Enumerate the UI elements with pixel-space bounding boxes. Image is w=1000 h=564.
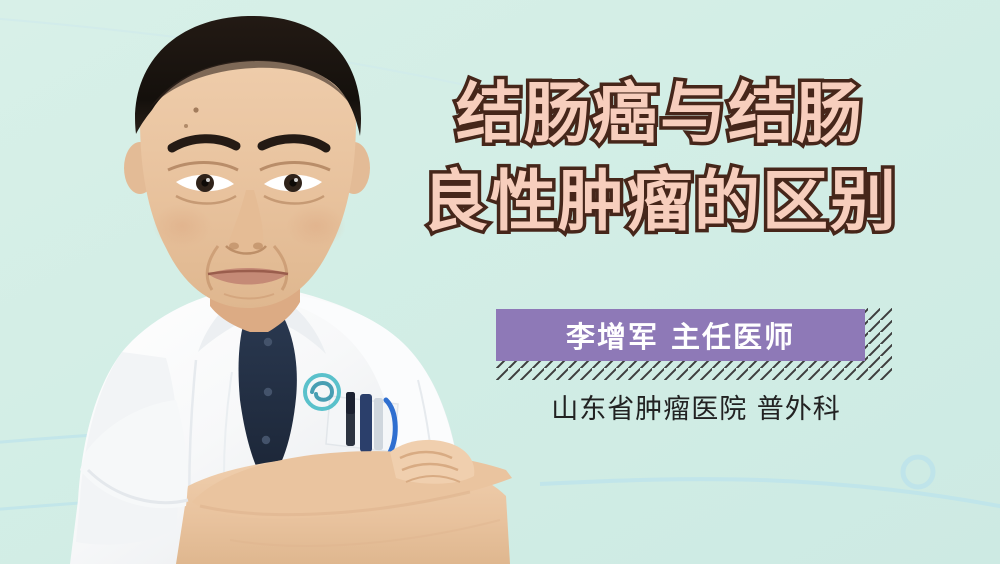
- video-thumbnail-canvas: 结肠癌与结肠 良性肿瘤的区别 李增军 主任医师 山东省肿瘤: [0, 0, 1000, 564]
- video-title: 结肠癌与结肠 良性肿瘤的区别: [410, 70, 910, 246]
- speaker-affiliation: 山东省肿瘤医院 普外科: [496, 387, 896, 426]
- circle-node-icon: [903, 457, 933, 487]
- title-line-1: 结肠癌与结肠: [410, 70, 910, 158]
- speaker-name-text: 李增军 主任医师: [566, 314, 795, 356]
- title-line-2: 良性肿瘤的区别: [410, 158, 910, 246]
- hand: [390, 440, 474, 484]
- speaker-name-badge: 李增军 主任医师: [496, 309, 865, 361]
- head: [124, 16, 370, 308]
